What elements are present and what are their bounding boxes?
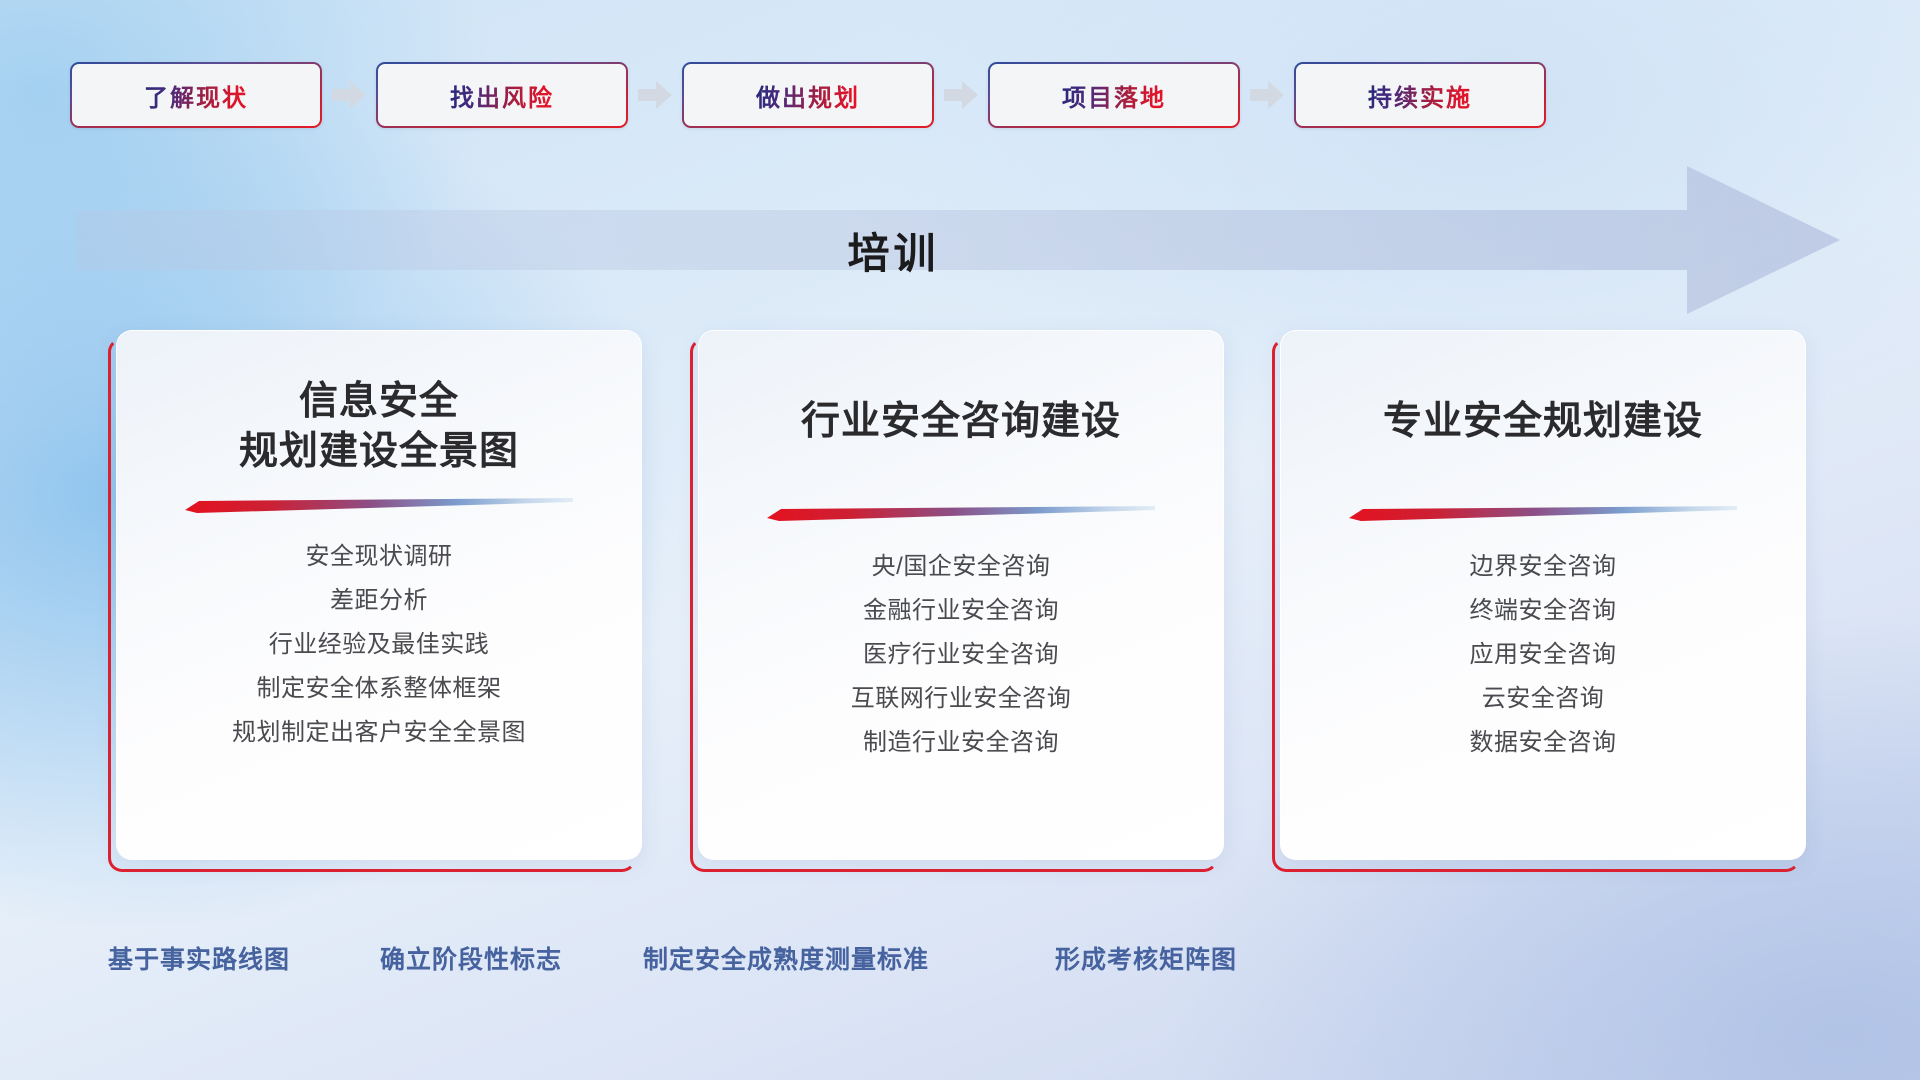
step-connector-arrow-icon	[628, 81, 682, 109]
list-item: 央/国企安全咨询	[725, 545, 1197, 589]
list-item: 医疗行业安全咨询	[725, 633, 1197, 677]
step-label: 做出规划	[756, 78, 860, 113]
card-item-list: 边界安全咨询 终端安全咨询 应用安全咨询 云安全咨询 数据安全咨询	[1307, 545, 1779, 765]
list-item: 应用安全咨询	[1307, 633, 1779, 677]
card-body: 信息安全 规划建设全景图	[116, 330, 642, 860]
card-item-list: 安全现状调研 差距分析 行业经验及最佳实践 制定安全体系整体框架 规划制定出客户…	[143, 535, 615, 755]
caption-2: 制定安全成熟度测量标准	[643, 940, 929, 976]
list-item: 制定安全体系整体框架	[143, 667, 615, 711]
step-connector-arrow-icon	[934, 81, 988, 109]
list-item: 数据安全咨询	[1307, 721, 1779, 765]
card-body: 专业安全规划建设	[1280, 330, 1806, 860]
slide-canvas: 了解现状 找出风险 做出规划 项目落地 持续实施	[0, 0, 1920, 1080]
caption-row: 基于事实路线图 确立阶段性标志 制定安全成熟度测量标准 形成考核矩阵图	[0, 940, 1920, 990]
step-box-0[interactable]: 了解现状	[70, 62, 322, 128]
card-divider-icon	[767, 505, 1155, 521]
list-item: 云安全咨询	[1307, 677, 1779, 721]
step-connector-arrow-icon	[1240, 81, 1294, 109]
list-item: 互联网行业安全咨询	[725, 677, 1197, 721]
list-item: 边界安全咨询	[1307, 545, 1779, 589]
card-item-list: 央/国企安全咨询 金融行业安全咨询 医疗行业安全咨询 互联网行业安全咨询 制造行…	[725, 545, 1197, 765]
caption-1: 确立阶段性标志	[380, 940, 562, 976]
card-2[interactable]: 专业安全规划建设	[1272, 330, 1802, 875]
list-item: 规划制定出客户安全全景图	[143, 711, 615, 755]
step-label: 持续实施	[1368, 78, 1472, 113]
card-1[interactable]: 行业安全咨询建设	[690, 330, 1220, 875]
card-body: 行业安全咨询建设	[698, 330, 1224, 860]
list-item: 差距分析	[143, 579, 615, 623]
step-box-3[interactable]: 项目落地	[988, 62, 1240, 128]
card-0[interactable]: 信息安全 规划建设全景图	[108, 330, 638, 875]
step-box-2[interactable]: 做出规划	[682, 62, 934, 128]
card-divider-icon	[1349, 505, 1737, 521]
step-label: 找出风险	[450, 78, 554, 113]
step-box-1[interactable]: 找出风险	[376, 62, 628, 128]
card-title: 信息安全 规划建设全景图	[239, 377, 519, 477]
step-label: 项目落地	[1062, 78, 1166, 113]
card-row: 信息安全 规划建设全景图	[0, 330, 1920, 890]
training-banner-arrow-icon	[77, 166, 1840, 314]
process-step-row: 了解现状 找出风险 做出规划 项目落地 持续实施	[70, 62, 1850, 128]
card-title: 行业安全咨询建设	[801, 397, 1121, 447]
card-title: 专业安全规划建设	[1383, 397, 1703, 447]
step-box-4[interactable]: 持续实施	[1294, 62, 1546, 128]
caption-3: 形成考核矩阵图	[1055, 940, 1237, 976]
step-connector-arrow-icon	[322, 81, 376, 109]
card-divider-icon	[185, 497, 573, 513]
list-item: 金融行业安全咨询	[725, 589, 1197, 633]
list-item: 制造行业安全咨询	[725, 721, 1197, 765]
list-item: 行业经验及最佳实践	[143, 623, 615, 667]
list-item: 终端安全咨询	[1307, 589, 1779, 633]
step-label: 了解现状	[144, 78, 248, 113]
list-item: 安全现状调研	[143, 535, 615, 579]
caption-0: 基于事实路线图	[108, 940, 290, 976]
